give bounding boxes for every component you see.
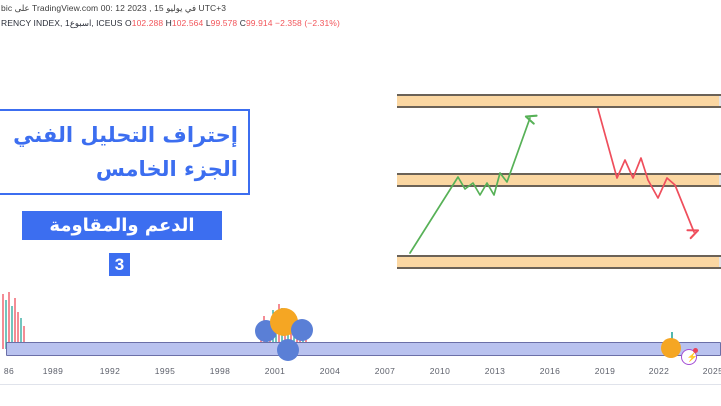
axis-divider xyxy=(0,384,721,385)
time-axis-tick: 2019 xyxy=(595,365,616,377)
time-axis-tick: 2001 xyxy=(265,365,286,377)
time-axis-tick: 2022 xyxy=(649,365,670,377)
lesson-title-line-2: الجزء الخامس xyxy=(96,152,238,186)
time-axis-tick: 2025 xyxy=(703,365,721,377)
time-axis-tick: 1992 xyxy=(100,365,121,377)
marker-blue-3[interactable] xyxy=(277,339,299,361)
time-axis-tick: 2004 xyxy=(320,365,341,377)
lesson-number-label: 3 xyxy=(115,256,124,274)
time-axis-tick: 1989 xyxy=(43,365,64,377)
lesson-subtitle-label: الدعم والمقاومة xyxy=(49,216,194,236)
legend-open-value: 102.288 xyxy=(132,18,163,28)
legend-timezone: UTC+3 xyxy=(198,3,226,13)
candle-group-1986 xyxy=(3,292,24,349)
legend-change: −2.358 xyxy=(275,18,302,28)
legend-ohlc-line: RENCY INDEX, 1اسبوع, ICEUS O102.288 H102… xyxy=(0,17,721,31)
support-resistance-diagram xyxy=(395,88,721,284)
time-axis-tick: 1998 xyxy=(210,365,231,377)
replay-flash-icon[interactable]: ⚡ xyxy=(681,349,697,365)
legend-high-value: 102.564 xyxy=(172,18,203,28)
legend-date: 2023 , 15 xyxy=(127,3,163,13)
legend-source-line: bic على TradingView.com 00: 12 2023 , 15… xyxy=(0,2,721,16)
time-axis-tick: 2016 xyxy=(540,365,561,377)
trend-arrows-svg xyxy=(395,88,721,284)
time-axis-tick: 2013 xyxy=(485,365,506,377)
legend-time: 00: 12 xyxy=(101,3,125,13)
notification-dot xyxy=(693,348,698,353)
uptrend-arrow-path xyxy=(410,118,530,253)
legend-open-label: O xyxy=(125,18,132,28)
legend-arabic-month: يوليو xyxy=(166,4,182,14)
legend-exchange: ICEUS xyxy=(96,18,122,28)
legend-low-value: 99.578 xyxy=(211,18,238,28)
lesson-number-badge: 3 xyxy=(109,253,130,276)
timeline-mini-chart[interactable]: 8619891992199519982001200420072010201320… xyxy=(0,292,721,406)
lesson-subtitle-banner: الدعم والمقاومة xyxy=(22,211,222,240)
lesson-title-card: إحتراف التحليل الفني الجزء الخامس xyxy=(0,109,250,195)
legend-source: TradingView.com xyxy=(32,3,98,13)
legend-prefix: bic xyxy=(1,3,12,13)
time-axis-tick: 2007 xyxy=(375,365,396,377)
time-axis-tick: 1995 xyxy=(155,365,176,377)
marker-orange-2[interactable] xyxy=(661,338,681,358)
flash-glyph: ⚡ xyxy=(687,352,698,362)
timeline-scrollbar[interactable] xyxy=(6,342,721,356)
legend-arabic-on: على xyxy=(15,4,30,14)
time-axis-ticks[interactable]: 8619891992199519982001200420072010201320… xyxy=(0,365,721,381)
chart-legend: bic على TradingView.com 00: 12 2023 , 15… xyxy=(0,0,721,31)
legend-close-value: 99.914 xyxy=(246,18,273,28)
legend-interval-arabic[interactable]: اسبوع xyxy=(70,19,92,29)
time-axis-tick: 86 xyxy=(4,365,14,377)
lesson-title-line-1: إحتراف التحليل الفني xyxy=(13,118,238,152)
downtrend-arrow-path xyxy=(598,109,694,232)
legend-change-percent: (−2.31%) xyxy=(304,18,340,28)
legend-arabic-in: في xyxy=(185,4,196,14)
mini-chart-candles xyxy=(0,292,721,368)
legend-symbol[interactable]: RENCY INDEX, xyxy=(1,18,63,28)
time-axis-tick: 2010 xyxy=(430,365,451,377)
marker-blue-2[interactable] xyxy=(291,319,313,341)
